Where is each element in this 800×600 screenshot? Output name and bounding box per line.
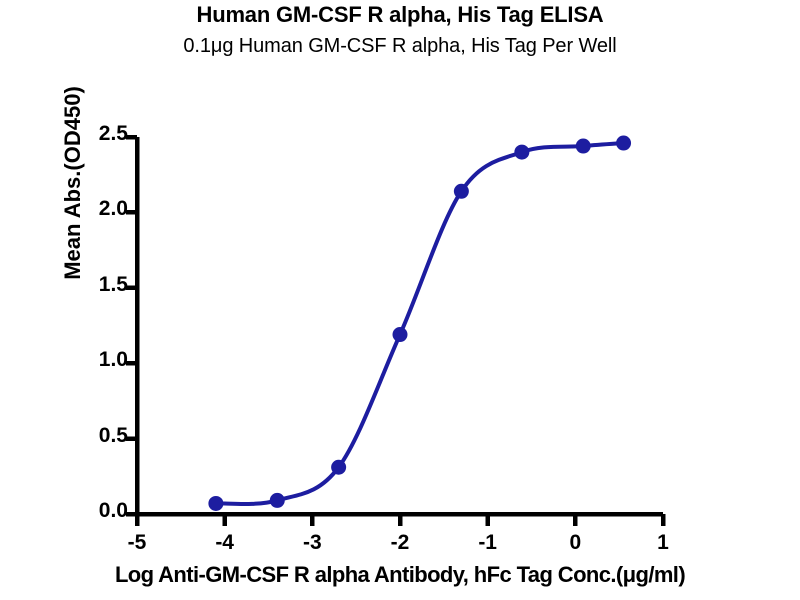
data-points bbox=[208, 136, 631, 511]
data-point-marker bbox=[454, 184, 469, 199]
data-point-marker bbox=[393, 327, 408, 342]
data-curve bbox=[216, 143, 624, 504]
elisa-chart-figure: Human GM-CSF R alpha, His Tag ELISA 0.1μ… bbox=[0, 0, 800, 600]
data-point-marker bbox=[576, 139, 591, 154]
data-point-marker bbox=[208, 496, 223, 511]
data-point-marker bbox=[331, 460, 346, 475]
plot-area bbox=[0, 0, 800, 600]
series-line bbox=[216, 143, 624, 504]
data-point-marker bbox=[270, 493, 285, 508]
data-point-marker bbox=[514, 145, 529, 160]
data-point-marker bbox=[616, 136, 631, 151]
